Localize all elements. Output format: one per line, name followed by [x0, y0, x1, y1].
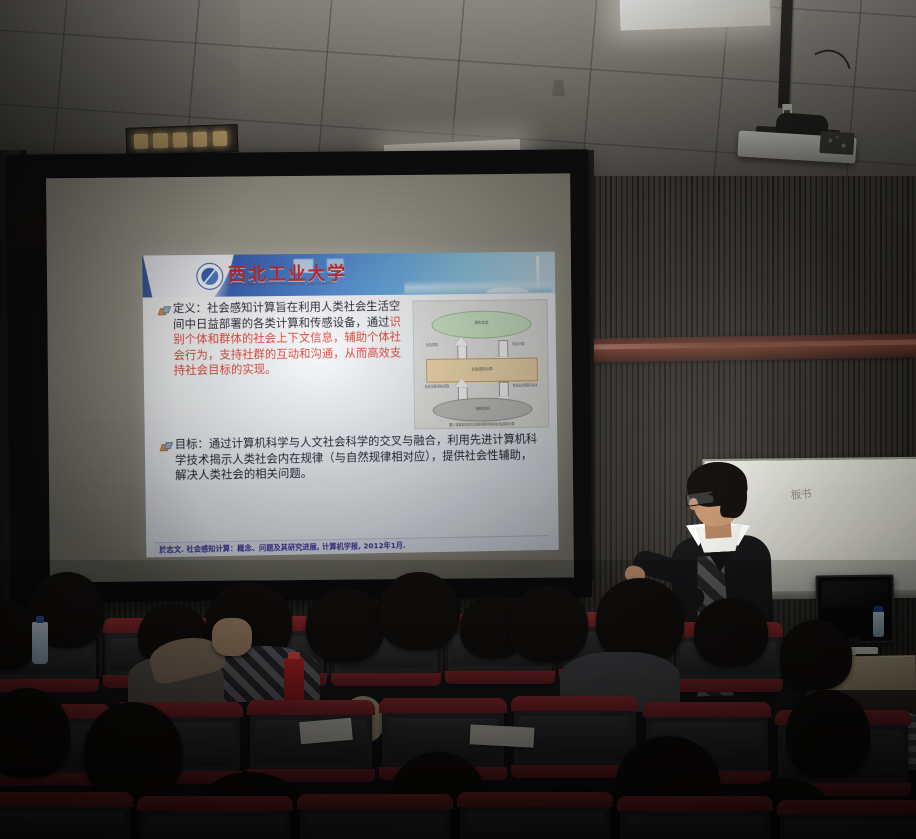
- projection-screen-frame: 西北工业大学 NORTHWESTERN POLYTECHNICAL UNIVER…: [6, 149, 592, 603]
- audience-seating: [0, 560, 916, 839]
- lecture-hall-scene: 板书 西北工业大学 NORTHWESTERN POLYTECHNICAL UNI…: [0, 0, 916, 839]
- audience-shading: [0, 560, 916, 839]
- projection-screen-surface: 西北工业大学 NORTHWESTERN POLYTECHNICAL UNIVER…: [46, 173, 574, 582]
- screen-vignette: [46, 173, 574, 582]
- presenter-hair-back: [720, 477, 749, 519]
